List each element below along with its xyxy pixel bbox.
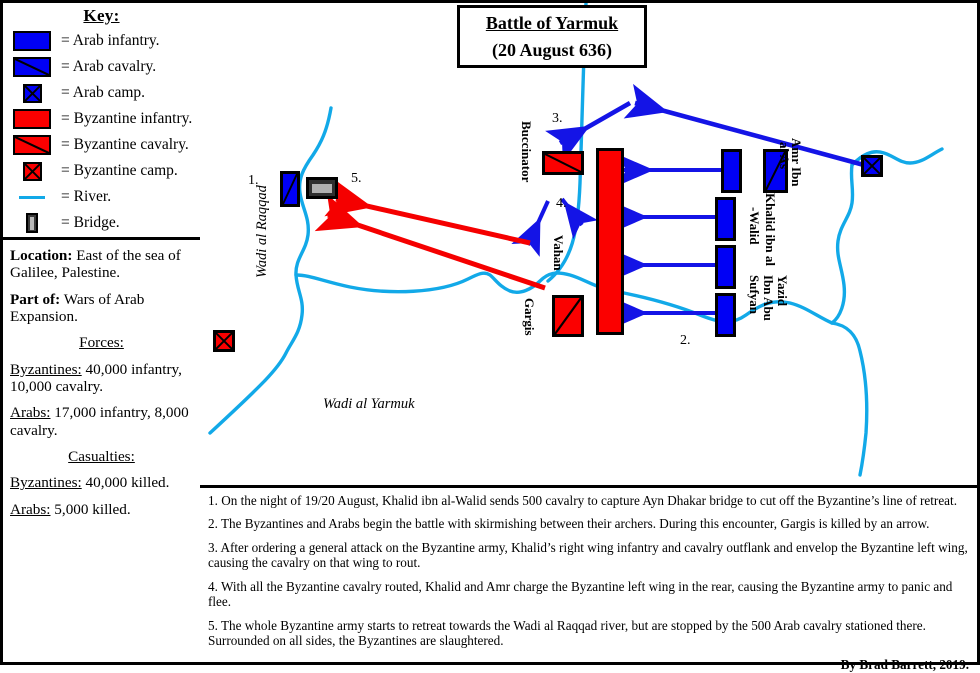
notes-panel: 1. On the night of 19/20 August, Khalid … bbox=[200, 485, 977, 662]
title-box: Battle of Yarmuk (20 August 636) bbox=[457, 5, 647, 68]
forces-heading: Forces: bbox=[10, 334, 193, 351]
casualties-heading: Casualties: bbox=[10, 448, 193, 465]
location-label: Location: bbox=[10, 247, 72, 264]
commander-label-buccinator: Buccinator bbox=[518, 121, 534, 182]
retreat-arrows-5 bbox=[328, 199, 545, 288]
key-label: = Byzantine camp. bbox=[55, 162, 178, 180]
side-label: Arabs: bbox=[10, 404, 51, 421]
key-label: = Arab infantry. bbox=[55, 32, 160, 50]
casualties-arabs: Arabs: 5,000 killed. bbox=[10, 501, 193, 518]
arab-cavalry-at-bridge bbox=[280, 171, 300, 207]
note-item-3: 3. After ordering a general attack on th… bbox=[208, 540, 969, 571]
map-marker-4: 4. bbox=[556, 196, 567, 212]
key-label: = River. bbox=[55, 188, 111, 206]
left-column: Key: = Arab infantry. = Arab cavalry. bbox=[3, 3, 200, 662]
forces-arabs: Arabs: 17,000 infantry, 8,000 cavalry. bbox=[10, 404, 193, 439]
key-title: Key: bbox=[3, 3, 200, 26]
arab-infantry-block-2 bbox=[715, 197, 736, 241]
map-marker-3: 3. bbox=[552, 111, 563, 127]
key-item-arab-cavalry: = Arab cavalry. bbox=[9, 54, 200, 80]
forces-byzantines: Byzantines: 40,000 infantry, 10,000 cava… bbox=[10, 361, 193, 396]
key-item-byzantine-cavalry: = Byzantine cavalry. bbox=[9, 132, 200, 158]
byzantine-infantry-line bbox=[596, 148, 624, 335]
key-item-river: = River. bbox=[9, 184, 200, 210]
arab-infantry-icon bbox=[9, 31, 55, 51]
commander-label-yazid-line1: Yazid bbox=[774, 275, 790, 306]
river-icon bbox=[9, 196, 55, 199]
commander-label-khalid-line2: -Walid bbox=[746, 207, 762, 245]
arab-infantry-block-4 bbox=[715, 293, 736, 337]
river-label-wadi-al-yarmuk: Wadi al Yarmuk bbox=[323, 396, 415, 413]
note-item-4: 4. With all the Byzantine cavalry routed… bbox=[208, 579, 969, 610]
key-label: = Arab cavalry. bbox=[55, 58, 156, 76]
river-network bbox=[210, 3, 942, 475]
key-item-bridge: = Bridge. bbox=[9, 210, 200, 236]
arab-advance-arrows bbox=[618, 170, 726, 313]
byzantine-camp-icon bbox=[9, 162, 55, 181]
arab-cavalry-icon bbox=[9, 57, 55, 77]
map-vector-layer bbox=[200, 3, 977, 485]
commander-label-amr-line2: al As bbox=[776, 142, 792, 169]
page-subtitle: (20 August 636) bbox=[460, 40, 644, 61]
ayn-dhakar-bridge bbox=[306, 177, 338, 199]
key-item-arab-infantry: = Arab infantry. bbox=[9, 28, 200, 54]
bridge-icon bbox=[9, 213, 55, 233]
side-value: 5,000 killed. bbox=[51, 501, 131, 518]
commander-label-khalid-line1: Khalid ibn al bbox=[762, 193, 778, 266]
key-item-byzantine-camp: = Byzantine camp. bbox=[9, 158, 200, 184]
key-label: = Byzantine cavalry. bbox=[55, 136, 189, 154]
byzantine-cavalry-gargis bbox=[552, 295, 584, 337]
info-panel: Location: East of the sea of Galilee, Pa… bbox=[3, 240, 200, 662]
key-label: = Bridge. bbox=[55, 214, 120, 232]
location-row: Location: East of the sea of Galilee, Pa… bbox=[10, 247, 193, 282]
arab-camp-marker bbox=[861, 155, 883, 177]
commander-label-yazid-line3: Sufyan bbox=[746, 275, 762, 314]
note-item-2: 2. The Byzantines and Arabs begin the ba… bbox=[208, 516, 969, 531]
side-label: Byzantines: bbox=[10, 361, 82, 378]
arab-infantry-block-1 bbox=[721, 149, 742, 193]
map-marker-1: 1. bbox=[248, 173, 259, 189]
partof-label: Part of: bbox=[10, 291, 60, 308]
side-label: Byzantines: bbox=[10, 474, 82, 491]
key-label: = Byzantine infantry. bbox=[55, 110, 192, 128]
side-value: 40,000 killed. bbox=[82, 474, 170, 491]
key-rows: = Arab infantry. = Arab cavalry. bbox=[3, 26, 200, 236]
key-label: = Arab camp. bbox=[55, 84, 145, 102]
arab-infantry-block-3 bbox=[715, 245, 736, 289]
river-label-wadi-al-raqqad: Wadi al Raqqad bbox=[254, 185, 271, 278]
key-item-arab-camp: = Arab camp. bbox=[9, 80, 200, 106]
byzantine-infantry-icon bbox=[9, 109, 55, 129]
arab-camp-icon bbox=[9, 84, 55, 103]
key-panel: Key: = Arab infantry. = Arab cavalry. bbox=[3, 3, 200, 240]
page-title: Battle of Yarmuk bbox=[460, 13, 644, 34]
key-item-byzantine-infantry: = Byzantine infantry. bbox=[9, 106, 200, 132]
byzantine-cavalry-buccinator bbox=[542, 151, 584, 175]
commander-label-vahan: Vahan bbox=[550, 235, 566, 271]
commander-label-yazid-line2: Ibn Abu bbox=[760, 275, 776, 321]
byzantine-camp-marker bbox=[213, 330, 235, 352]
note-item-1: 1. On the night of 19/20 August, Khalid … bbox=[208, 493, 969, 508]
partof-row: Part of: Wars of Arab Expansion. bbox=[10, 291, 193, 326]
byzantine-cavalry-icon bbox=[9, 135, 55, 155]
map-marker-5: 5. bbox=[351, 171, 362, 187]
commander-label-gargis: Gargis bbox=[521, 298, 537, 336]
map-marker-2: 2. bbox=[680, 333, 691, 349]
note-item-5: 5. The whole Byzantine army starts to re… bbox=[208, 618, 969, 649]
casualties-byzantines: Byzantines: 40,000 killed. bbox=[10, 474, 193, 491]
battle-map: Battle of Yarmuk (20 August 636) bbox=[200, 3, 977, 485]
side-label: Arabs: bbox=[10, 501, 51, 518]
